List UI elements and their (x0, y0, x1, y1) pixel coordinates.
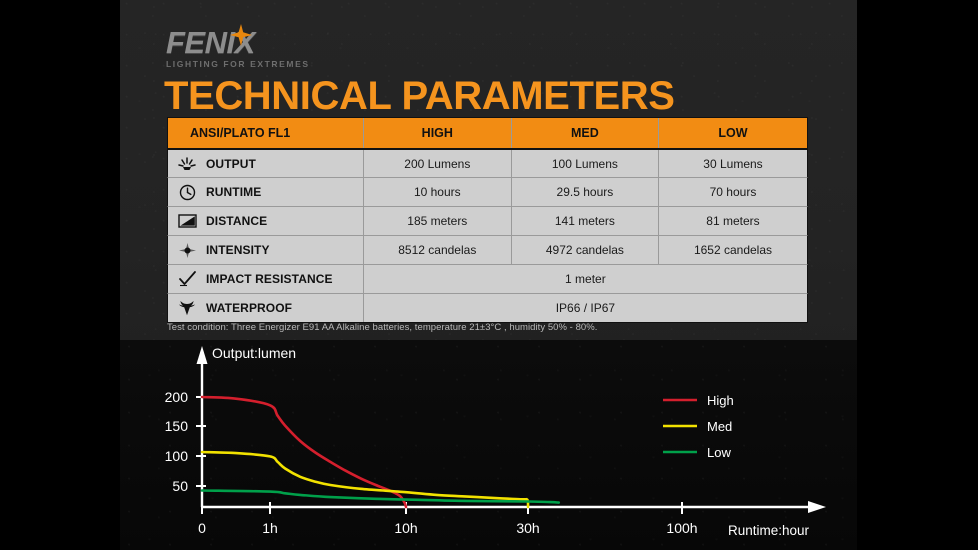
row-label: INTENSITY (206, 243, 270, 257)
y-tick-100: 100 (165, 448, 189, 464)
logo-wordmark: FENIX (166, 27, 346, 58)
cell-low: 30 Lumens (659, 150, 807, 177)
row-label: OUTPUT (206, 157, 256, 171)
x-axis-label: Runtime:hour (728, 523, 810, 538)
cell-low: 70 hours (659, 178, 807, 206)
cell-span-all: IP66 / IP67 (364, 294, 807, 322)
clock-icon (176, 183, 198, 201)
row-label-cell: INTENSITY (168, 236, 364, 264)
cell-high: 200 Lumens (364, 150, 512, 177)
cell-med: 100 Lumens (512, 150, 660, 177)
row-label: RUNTIME (206, 185, 261, 199)
x-tick-100h: 100h (666, 520, 697, 536)
y-axis-label: Output:lumen (212, 345, 296, 361)
table-row: INTENSITY 8512 candelas 4972 candelas 16… (167, 236, 808, 265)
row-label: WATERPROOF (206, 301, 292, 315)
legend-label-high: High (707, 393, 734, 408)
specs-table: ANSI/PLATO FL1 HIGH MED LOW (167, 117, 808, 323)
table-row: WATERPROOF IP66 / IP67 (167, 294, 808, 323)
x-tick-0: 0 (198, 520, 206, 536)
test-condition-note: Test condition: Three Energizer E91 AA A… (167, 322, 597, 333)
table-row: RUNTIME 10 hours 29.5 hours 70 hours (167, 178, 808, 207)
cell-med: 141 meters (512, 207, 660, 235)
table-row: OUTPUT 200 Lumens 100 Lumens 30 Lumens (167, 149, 808, 178)
infographic-root: FENIX LIGHTING FOR EXTREMES TECHNICAL PA… (0, 0, 978, 550)
row-label-cell: RUNTIME (168, 178, 364, 206)
row-label-cell: DISTANCE (168, 207, 364, 235)
chart-legend: High Med Low (663, 393, 734, 460)
x-tick-1h: 1h (262, 520, 278, 536)
y-tick-200: 200 (165, 389, 189, 405)
chart-line-low (202, 491, 559, 503)
runtime-chart: 200 150 100 50 Output:lumen Runtime:hour… (120, 340, 857, 550)
y-tick-150: 150 (165, 418, 189, 434)
light-burst-icon (176, 155, 198, 173)
checkmark-icon (176, 270, 198, 288)
column-header-high: HIGH (364, 118, 512, 148)
intensity-icon (176, 241, 198, 259)
row-label-cell: IMPACT RESISTANCE (168, 265, 364, 293)
table-row: DISTANCE 185 meters 141 meters 81 meters (167, 207, 808, 236)
table-row: IMPACT RESISTANCE 1 meter (167, 265, 808, 294)
table-header-row: ANSI/PLATO FL1 HIGH MED LOW (167, 117, 808, 149)
legend-label-low: Low (707, 445, 731, 460)
cell-med: 4972 candelas (512, 236, 660, 264)
logo-tagline: LIGHTING FOR EXTREMES (166, 59, 346, 69)
row-label: IMPACT RESISTANCE (206, 272, 333, 286)
y-tick-50: 50 (172, 478, 188, 494)
cell-low: 81 meters (659, 207, 807, 235)
cell-high: 185 meters (364, 207, 512, 235)
fenix-logo: FENIX LIGHTING FOR EXTREMES (166, 27, 346, 73)
cell-med: 29.5 hours (512, 178, 660, 206)
column-header-low: LOW (659, 118, 807, 148)
beam-icon (176, 212, 198, 230)
cell-low: 1652 candelas (659, 236, 807, 264)
cell-high: 10 hours (364, 178, 512, 206)
waterdrop-icon (176, 299, 198, 317)
row-label-cell: OUTPUT (168, 150, 364, 177)
row-label-cell: WATERPROOF (168, 294, 364, 322)
row-label: DISTANCE (206, 214, 267, 228)
page-title: TECHNICAL PARAMETERS (164, 76, 675, 116)
cell-high: 8512 candelas (364, 236, 512, 264)
legend-label-med: Med (707, 419, 732, 434)
x-tick-30h: 30h (516, 520, 539, 536)
column-header-med: MED (512, 118, 660, 148)
star-icon (230, 24, 252, 46)
x-tick-10h: 10h (394, 520, 417, 536)
chart-series-layer (202, 397, 559, 507)
column-header-standard: ANSI/PLATO FL1 (168, 118, 364, 148)
cell-span-all: 1 meter (364, 265, 807, 293)
